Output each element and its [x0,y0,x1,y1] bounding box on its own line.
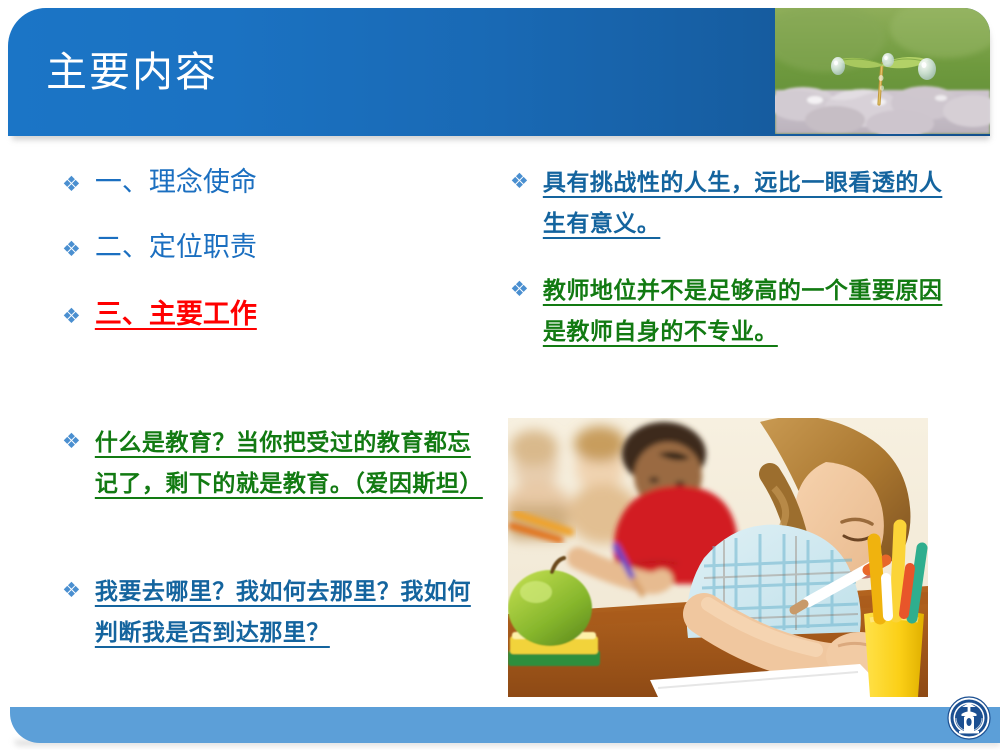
diamond-bullet-icon: ❖ [62,431,81,452]
diamond-bullet-icon: ❖ [62,306,81,327]
left-quote-1-text: 什么是教育？当你把受过的教育都忘记了，剩下的就是教育。（爱因斯坦） [95,423,492,505]
toc-item-3-label: 三、主要工作 [95,298,257,332]
left-quote-1: ❖ 什么是教育？当你把受过的教育都忘记了，剩下的就是教育。（爱因斯坦） [62,423,492,505]
toc-item-2-label: 二、定位职责 [95,231,257,265]
diamond-bullet-icon: ❖ [62,174,81,195]
school-emblem-logo-icon [947,696,991,740]
slide-canvas: 主要内容 [0,0,1000,750]
right-quote-2: ❖ 教师地位并不是足够高的一个重要原因是教师自身的不专业。 [510,271,960,353]
right-quote-1: ❖ 具有挑战性的人生，远比一眼看透的人生有意义。 [510,163,960,245]
diamond-bullet-icon: ❖ [510,279,529,300]
diamond-bullet-icon: ❖ [510,171,529,192]
left-quote-2: ❖ 我要去哪里？我如何去那里？我如何判断我是否到达那里？ [62,572,492,654]
toc-item-1-label: 一、理念使命 [95,166,257,200]
classroom-photo [508,418,928,697]
left-quote-2-text: 我要去哪里？我如何去那里？我如何判断我是否到达那里？ [95,572,492,654]
toc-item-2[interactable]: ❖ 二、定位职责 [62,231,257,265]
right-quote-2-text: 教师地位并不是足够高的一个重要原因是教师自身的不专业。 [543,271,960,353]
toc-item-3-active[interactable]: ❖ 三、主要工作 [62,298,257,332]
diamond-bullet-icon: ❖ [62,580,81,601]
page-title: 主要内容 [46,38,218,98]
right-quote-1-text: 具有挑战性的人生，远比一眼看透的人生有意义。 [543,163,960,245]
footer-bar [10,707,1000,743]
seedling-photo [775,8,990,134]
diamond-bullet-icon: ❖ [62,239,81,260]
slide-header: 主要内容 [8,8,990,136]
toc-item-1[interactable]: ❖ 一、理念使命 [62,166,257,200]
